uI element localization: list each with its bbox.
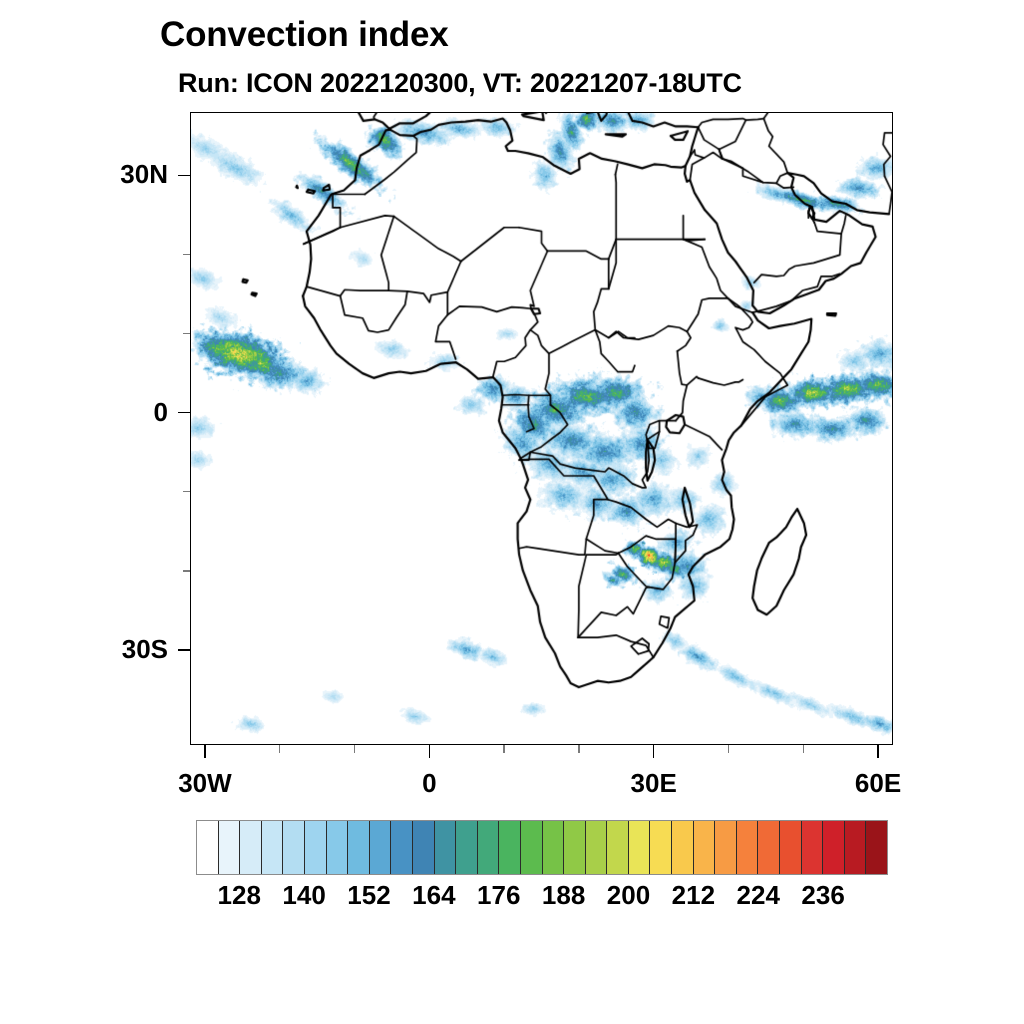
x-axis-label-30W: 30W [178,770,231,796]
colorbar-tick-140: 140 [282,882,325,908]
colorbar-band-7 [348,821,370,874]
colorbar-band-30 [845,821,867,874]
colorbar-band-2 [240,821,262,874]
colorbar-band-17 [564,821,586,874]
y-axis-tick-minor [183,570,190,571]
figure-root: Convection index Run: ICON 2022120300, V… [0,0,1024,1024]
colorbar-tick-176: 176 [477,882,520,908]
x-axis-label-60E: 60E [855,770,901,796]
colorbar-tick-188: 188 [542,882,585,908]
colorbar-band-5 [305,821,327,874]
y-axis-label-30N: 30N [0,161,168,187]
x-axis-tick-minor [354,745,355,753]
y-axis-tick-major [178,649,190,651]
colorbar-band-18 [586,821,608,874]
y-axis-tick-major [178,412,190,414]
x-axis-tick-minor [279,745,280,753]
y-axis-tick-minor [183,333,190,334]
colorbar-band-6 [327,821,349,874]
colorbar-bands [196,820,888,875]
x-axis-tick-major [877,745,879,758]
x-axis-tick-major [204,745,206,758]
colorbar-band-20 [629,821,651,874]
y-axis-label-30S: 30S [0,636,168,662]
colorbar-band-31 [866,821,887,874]
colorbar-band-9 [391,821,413,874]
colorbar-band-12 [456,821,478,874]
colorbar-band-10 [413,821,435,874]
y-axis-tick-minor [183,254,190,255]
figure-subtitle: Run: ICON 2022120300, VT: 20221207-18UTC [178,70,742,97]
colorbar-band-26 [758,821,780,874]
colorbar-band-14 [499,821,521,874]
colorbar-band-4 [283,821,305,874]
y-axis-tick-major [178,175,190,177]
colorbar-band-19 [607,821,629,874]
colorbar-band-21 [650,821,672,874]
x-axis-label-0: 0 [422,770,436,796]
colorbar-band-15 [521,821,543,874]
colorbar-band-1 [219,821,241,874]
colorbar-tick-164: 164 [412,882,455,908]
x-axis-tick-minor [803,745,804,753]
colorbar-band-0 [197,821,219,874]
colorbar-band-16 [543,821,565,874]
map-plot-area[interactable] [190,112,893,745]
y-axis-label-0: 0 [0,399,168,425]
colorbar[interactable] [196,820,888,875]
colorbar-band-24 [715,821,737,874]
x-axis-tick-minor [578,745,579,753]
colorbar-band-8 [370,821,392,874]
colorbar-band-22 [672,821,694,874]
colorbar-tick-236: 236 [801,882,844,908]
colorbar-band-28 [802,821,824,874]
colorbar-tick-200: 200 [607,882,650,908]
colorbar-band-13 [478,821,500,874]
colorbar-tick-152: 152 [347,882,390,908]
page-title: Convection index [160,17,449,52]
colorbar-tick-212: 212 [672,882,715,908]
colorbar-tick-128: 128 [218,882,261,908]
x-axis-tick-major [429,745,431,758]
colorbar-band-11 [435,821,457,874]
colorbar-band-23 [694,821,716,874]
x-axis-label-30E: 30E [631,770,677,796]
x-axis-tick-major [653,745,655,758]
colorbar-band-3 [262,821,284,874]
colorbar-band-29 [823,821,845,874]
colorbar-tick-224: 224 [737,882,780,908]
convection-index-heatmap [191,113,892,744]
x-axis-tick-minor [503,745,504,753]
colorbar-band-27 [780,821,802,874]
y-axis-tick-minor [183,491,190,492]
colorbar-band-25 [737,821,759,874]
x-axis-tick-minor [728,745,729,753]
